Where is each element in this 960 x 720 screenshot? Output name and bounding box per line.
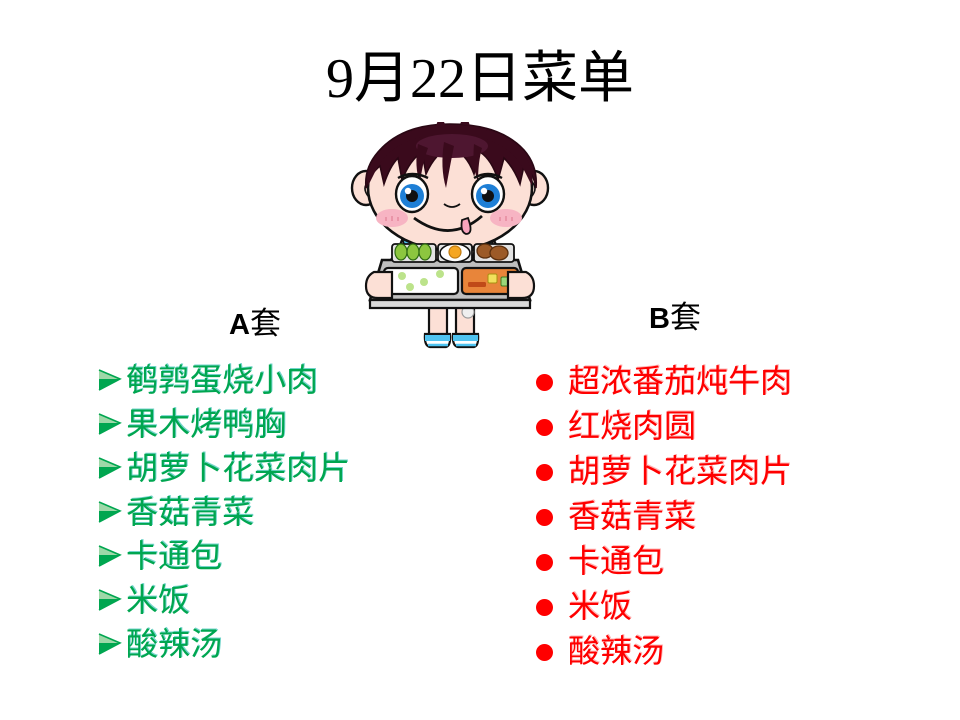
- disc-bullet-icon: [534, 636, 568, 666]
- list-item-label: 超浓番茄炖牛肉: [568, 362, 792, 400]
- arrow-bullet-icon: [96, 630, 126, 658]
- list-item-label: 红烧肉圆: [568, 407, 696, 445]
- list-item-label: 酸辣汤: [568, 632, 664, 670]
- list-item[interactable]: 鹌鹑蛋烧小肉: [96, 358, 350, 402]
- disc-bullet-icon: [534, 591, 568, 621]
- list-item-label: 卡通包: [568, 542, 664, 580]
- set-b-suffix: 套: [670, 300, 701, 335]
- set-a-letter: A: [229, 309, 250, 341]
- list-item-label: 香菇青菜: [568, 497, 696, 535]
- list-item-label: 胡萝卜花菜肉片: [568, 452, 792, 490]
- set-a-heading: A套: [160, 306, 350, 343]
- list-item[interactable]: 香菇青菜: [96, 490, 350, 534]
- arrow-bullet-icon: [96, 586, 126, 614]
- list-item[interactable]: 胡萝卜花菜肉片: [534, 448, 792, 493]
- head-group: [366, 122, 537, 250]
- list-item-label: 鹌鹑蛋烧小肉: [126, 361, 318, 399]
- set-a-menu-list: 鹌鹑蛋烧小肉 果木烤鸭胸 胡萝卜花菜肉片 香菇青菜 卡通包: [96, 358, 350, 666]
- list-item[interactable]: 超浓番茄炖牛肉: [534, 358, 792, 403]
- list-item-label: 米饭: [126, 581, 190, 619]
- menu-slide: 9月22日菜单: [0, 0, 960, 720]
- set-b-heading: B套: [580, 300, 770, 337]
- list-item[interactable]: 酸辣汤: [534, 628, 792, 673]
- lunch-tray-group: [370, 244, 530, 308]
- set-b-letter: B: [649, 303, 670, 335]
- set-a-suffix: 套: [250, 306, 281, 341]
- disc-bullet-icon: [534, 501, 568, 531]
- disc-bullet-icon: [534, 456, 568, 486]
- set-b-menu-list: 超浓番茄炖牛肉 红烧肉圆 胡萝卜花菜肉片 香菇青菜 卡通包 米饭 酸辣汤: [534, 358, 792, 673]
- list-item[interactable]: 米饭: [96, 578, 350, 622]
- list-item[interactable]: 卡通包: [534, 538, 792, 583]
- disc-bullet-icon: [534, 411, 568, 441]
- list-item-label: 果木烤鸭胸: [126, 405, 286, 443]
- cartoon-boy-with-lunch-tray-illustration: [340, 122, 560, 354]
- arrow-bullet-icon: [96, 542, 126, 570]
- list-item-label: 香菇青菜: [126, 493, 254, 531]
- list-item[interactable]: 红烧肉圆: [534, 403, 792, 448]
- list-item[interactable]: 果木烤鸭胸: [96, 402, 350, 446]
- arrow-bullet-icon: [96, 410, 126, 438]
- arrow-bullet-icon: [96, 454, 126, 482]
- list-item[interactable]: 胡萝卜花菜肉片: [96, 446, 350, 490]
- list-item-label: 米饭: [568, 587, 632, 625]
- list-item[interactable]: 卡通包: [96, 534, 350, 578]
- list-item[interactable]: 香菇青菜: [534, 493, 792, 538]
- page-title: 9月22日菜单: [0, 46, 960, 112]
- list-item[interactable]: 酸辣汤: [96, 622, 350, 666]
- arrow-bullet-icon: [96, 366, 126, 394]
- list-item-label: 酸辣汤: [126, 625, 222, 663]
- list-item-label: 胡萝卜花菜肉片: [126, 449, 350, 487]
- list-item[interactable]: 米饭: [534, 583, 792, 628]
- arrow-bullet-icon: [96, 498, 126, 526]
- disc-bullet-icon: [534, 366, 568, 396]
- list-item-label: 卡通包: [126, 537, 222, 575]
- disc-bullet-icon: [534, 546, 568, 576]
